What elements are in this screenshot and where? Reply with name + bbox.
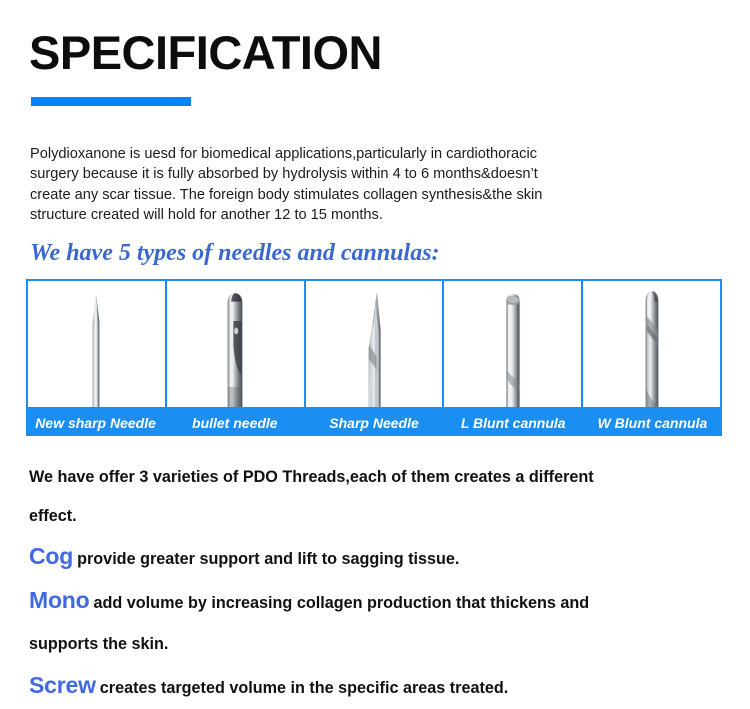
needle-caption-2: Sharp Needle	[304, 409, 443, 436]
needle-image-grid	[26, 279, 722, 409]
intro-paragraph: Polydioxanone is uesd for biomedical app…	[30, 144, 550, 226]
needle-cell-l-blunt-cannula[interactable]	[444, 281, 583, 407]
needle-caption-0: New sharp Needle	[26, 409, 165, 436]
needle-cell-new-sharp-needle[interactable]	[28, 281, 167, 407]
thread-text-cog: provide greater support and lift to sagg…	[77, 550, 459, 568]
flat-blunt-cannula-icon	[497, 291, 529, 407]
thread-item-mono: Monoadd volume by increasing collagen pr…	[29, 580, 719, 624]
title-underline-rule	[31, 97, 191, 106]
pdo-threads-description: We have offer 3 varieties of PDO Threads…	[29, 458, 719, 709]
bullet-tip-needle-icon	[220, 291, 250, 407]
sharp-point-needle-icon	[85, 287, 107, 407]
needle-caption-3: L Blunt cannula	[444, 409, 583, 436]
needle-caption-1: bullet needle	[165, 409, 304, 436]
needle-cell-bullet-needle[interactable]	[167, 281, 306, 407]
needle-gallery: New sharp Needle bullet needle Sharp Nee…	[26, 279, 722, 437]
round-blunt-cannula-icon	[637, 289, 667, 407]
threads-lead-line-1: We have offer 3 varieties of PDO Threads…	[29, 458, 719, 497]
threads-lead-line-2: effect.	[29, 497, 719, 536]
needle-caption-bar: New sharp Needle bullet needle Sharp Nee…	[26, 409, 722, 436]
thread-text-screw: creates targeted volume in the specific …	[100, 679, 508, 697]
thread-term-mono: Mono	[29, 587, 90, 613]
thread-text-mono-continued: supports the skin.	[29, 624, 719, 665]
thread-item-cog: Cogprovide greater support and lift to s…	[29, 536, 719, 580]
page-title: SPECIFICATION	[29, 27, 382, 79]
needle-cell-sharp-needle[interactable]	[306, 281, 445, 407]
bevel-sharp-needle-icon	[357, 289, 391, 407]
thread-term-cog: Cog	[29, 543, 73, 569]
needle-caption-4: W Blunt cannula	[583, 409, 722, 436]
needles-subheading: We have 5 types of needles and cannulas:	[30, 240, 440, 267]
thread-text-mono: add volume by increasing collagen produc…	[94, 594, 590, 612]
thread-item-screw: Screwcreates targeted volume in the spec…	[29, 665, 719, 709]
needle-cell-w-blunt-cannula[interactable]	[583, 281, 720, 407]
